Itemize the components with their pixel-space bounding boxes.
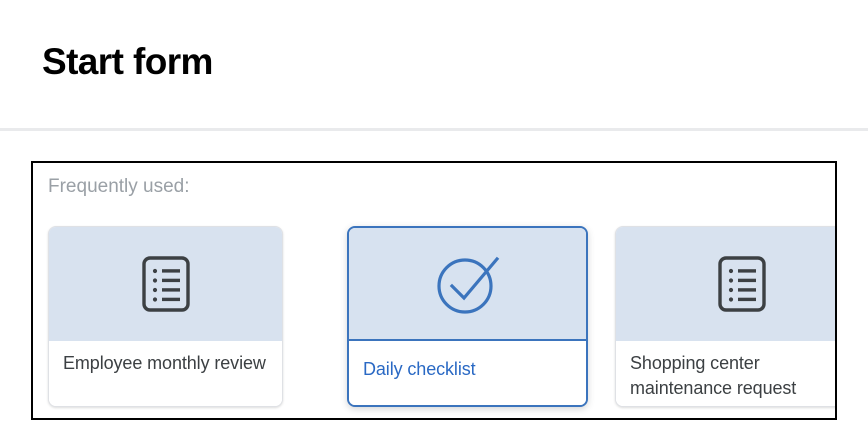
check-circle-icon (435, 252, 501, 316)
header-divider (0, 128, 868, 131)
form-card-label-area: Shopping center maintenance request (616, 341, 837, 407)
start-form-page: Start form Frequently used: (0, 0, 868, 435)
form-card-label: Daily checklist (363, 357, 572, 382)
document-list-icon (718, 256, 766, 312)
form-card-icon-area (49, 227, 282, 341)
form-card-label-area: Daily checklist (349, 341, 586, 407)
form-card-employee-monthly-review[interactable]: Employee monthly review (48, 226, 283, 407)
form-card-icon-area (349, 228, 586, 341)
frequently-used-panel: Frequently used: (31, 161, 837, 420)
document-list-icon (142, 256, 190, 312)
page-header: Start form (0, 0, 868, 129)
form-card-label-area: Employee monthly review (49, 341, 282, 407)
page-title: Start form (42, 40, 213, 84)
form-card-daily-checklist[interactable]: Daily checklist (347, 226, 588, 407)
form-card-label: Employee monthly review (63, 351, 268, 376)
frequently-used-label: Frequently used: (48, 175, 190, 199)
form-card-icon-area (616, 227, 837, 341)
form-card-shopping-center-maintenance-request[interactable]: Shopping center maintenance request (615, 226, 837, 407)
form-card-label: Shopping center maintenance request (630, 351, 837, 401)
